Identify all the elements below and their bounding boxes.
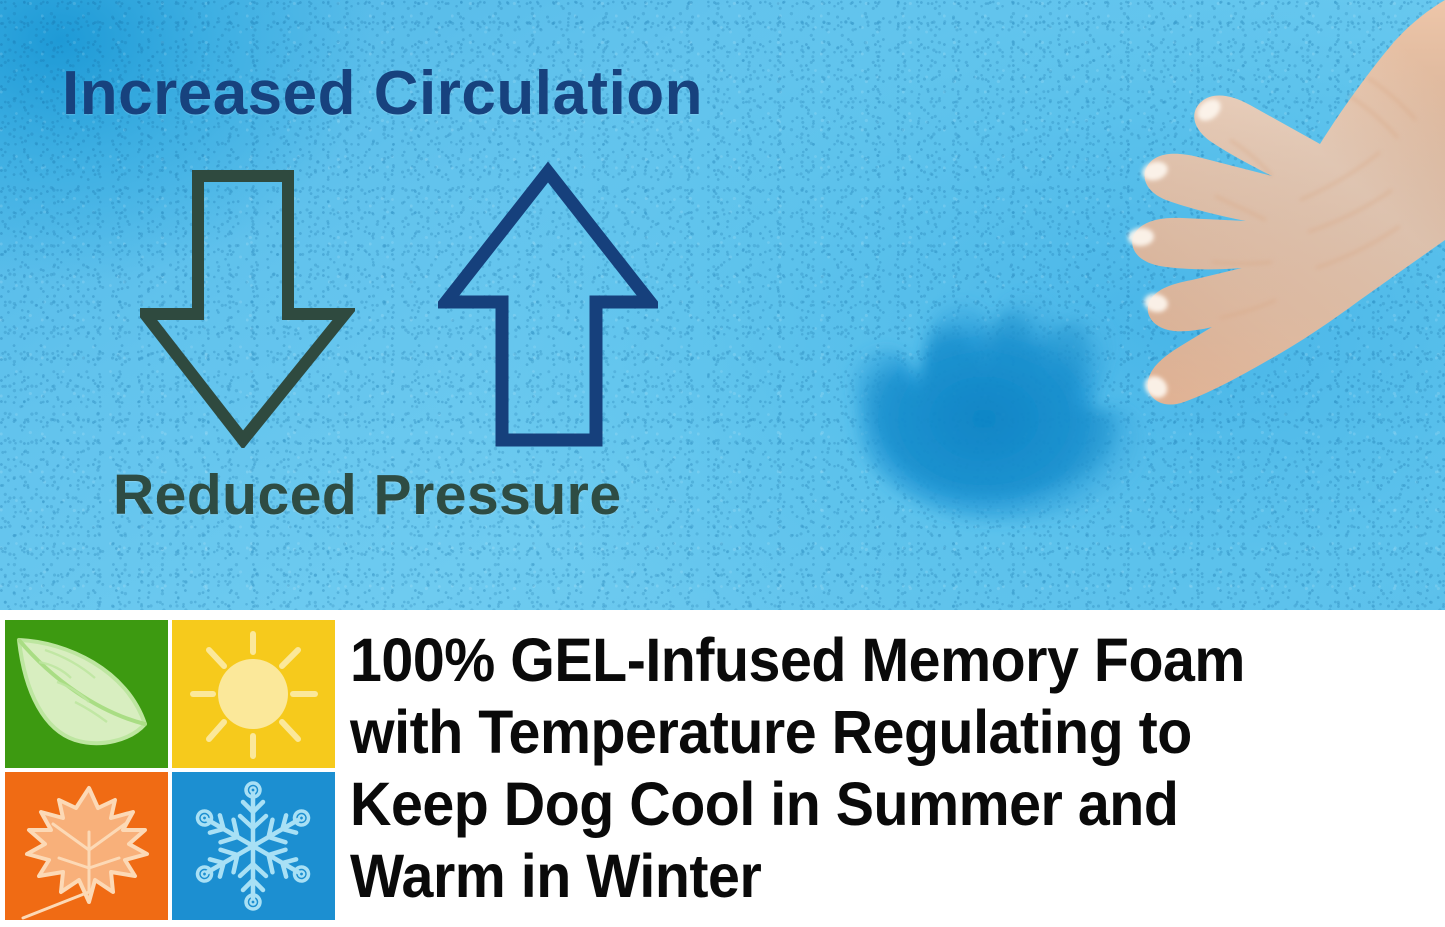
hand-shape [1128,0,1445,405]
maple-leaf-icon [5,772,168,920]
season-tile-spring [5,620,168,768]
arrow-up-glyph [438,160,658,450]
season-tile-winter [172,772,335,920]
four-seasons-icon-grid [5,620,335,920]
season-tile-summer [172,620,335,768]
leaf-icon [5,620,168,768]
season-tile-autumn [5,772,168,920]
feature-line-2: with Temperature Regulating to [350,696,1375,768]
product-banner: Increased Circulation Reduced Pressure [0,0,1445,927]
hand-on-foam-photo [760,0,1445,610]
caption-reduced-pressure: Reduced Pressure [113,462,622,528]
gel-foam-photo-panel: Increased Circulation Reduced Pressure [0,0,1445,610]
caption-increased-circulation: Increased Circulation [62,58,703,129]
feature-line-4: Warm in Winter [350,840,1375,912]
snowflake-icon [172,772,335,920]
arrow-up-icon [438,160,658,455]
feature-line-3: Keep Dog Cool in Summer and [350,768,1375,840]
arrow-down-glyph [140,168,355,448]
feature-description-text: 100% GEL-Infused Memory Foam with Temper… [350,624,1440,912]
hand-illustration [760,0,1445,610]
arrow-down-icon [140,168,355,453]
feature-line-1: 100% GEL-Infused Memory Foam [350,624,1375,696]
feature-info-panel: 100% GEL-Infused Memory Foam with Temper… [0,610,1445,927]
sun-icon [172,620,335,768]
